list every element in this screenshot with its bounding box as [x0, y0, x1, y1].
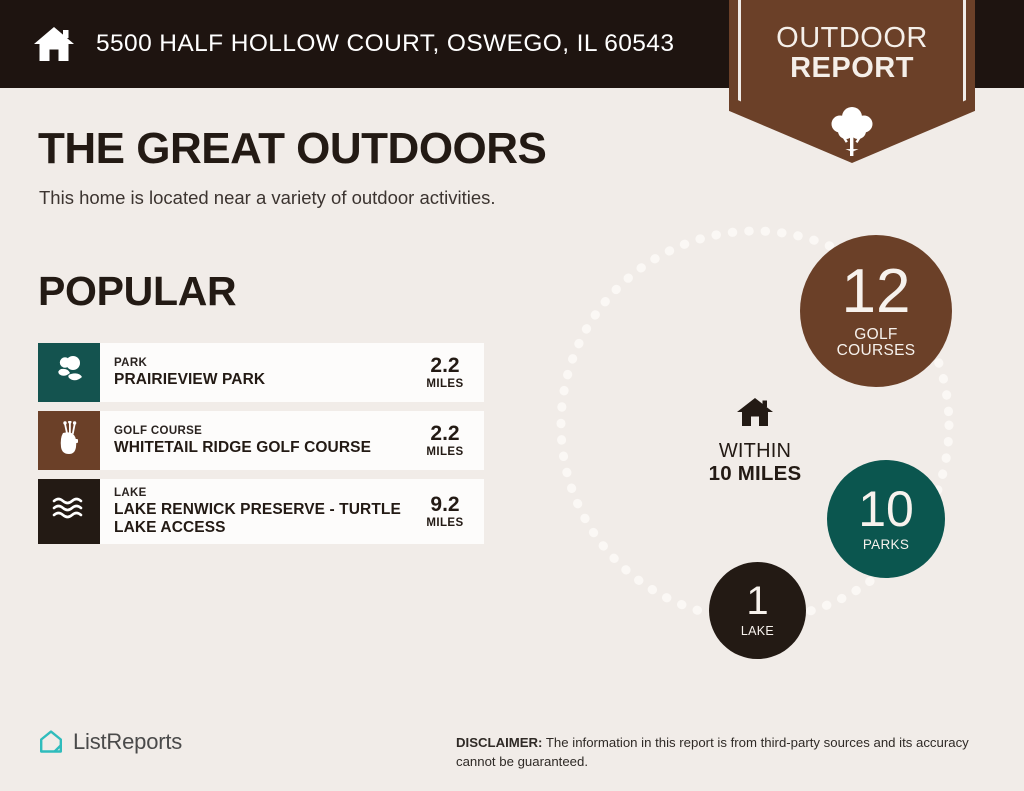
list-item-distance-value: 2.2	[414, 355, 476, 376]
within-label-line1: WITHIN	[690, 441, 820, 463]
list-item[interactable]: PARK PRAIRIEVIEW PARK 2.2 MILES	[38, 343, 484, 402]
list-item-distance-value: 2.2	[414, 423, 476, 444]
list-item-distance: 2.2 MILES	[414, 355, 484, 390]
list-item-name: WHITETAIL RIDGE GOLF COURSE	[114, 439, 414, 457]
list-item[interactable]: LAKE LAKE RENWICK PRESERVE - TURTLE LAKE…	[38, 479, 484, 544]
page-subtitle: This home is located near a variety of o…	[39, 187, 496, 209]
disclaimer: DISCLAIMER: The information in this repo…	[456, 734, 986, 771]
park-trees-icon	[52, 355, 86, 390]
list-item-icon-tile	[38, 343, 100, 402]
stat-count: 10	[858, 486, 914, 534]
within-label-line2: 10 MILES	[690, 463, 820, 486]
list-item-body: GOLF COURSE WHITETAIL RIDGE GOLF COURSE …	[100, 411, 484, 470]
stat-count: 1	[746, 582, 768, 620]
outdoor-report-page: 5500 HALF HOLLOW COURT, OSWEGO, IL 60543…	[0, 0, 1024, 791]
disclaimer-label: DISCLAIMER:	[456, 735, 542, 750]
home-icon	[690, 395, 820, 429]
list-item-texts: LAKE LAKE RENWICK PRESERVE - TURTLE LAKE…	[114, 486, 414, 537]
list-item-texts: GOLF COURSE WHITETAIL RIDGE GOLF COURSE	[114, 424, 414, 457]
list-item-distance-unit: MILES	[414, 446, 476, 458]
listreports-wordmark: ListReports	[73, 729, 182, 755]
list-item-icon-tile	[38, 411, 100, 470]
list-item[interactable]: GOLF COURSE WHITETAIL RIDGE GOLF COURSE …	[38, 411, 484, 470]
badge-title-line2: REPORT	[729, 54, 975, 84]
badge-title: OUTDOOR REPORT	[729, 24, 975, 83]
property-address: 5500 HALF HOLLOW COURT, OSWEGO, IL 60543	[96, 30, 674, 58]
list-item-name: PRAIRIEVIEW PARK	[114, 371, 414, 389]
list-item-category: GOLF COURSE	[114, 424, 414, 438]
diagram-center-label: WITHIN 10 MILES	[690, 395, 820, 486]
list-item-distance: 2.2 MILES	[414, 423, 484, 458]
home-icon	[32, 22, 76, 66]
header-address-group: 5500 HALF HOLLOW COURT, OSWEGO, IL 60543	[32, 0, 674, 88]
stat-label-line2: COURSES	[837, 343, 916, 359]
listreports-logo[interactable]: ListReports	[38, 729, 182, 755]
stat-bubble-golf-courses[interactable]: 12 GOLF COURSES	[800, 235, 952, 387]
stat-label-line1: GOLF	[837, 327, 916, 343]
page-title: THE GREAT OUTDOORS	[38, 124, 546, 174]
stat-label: LAKE	[741, 625, 774, 638]
list-item-body: LAKE LAKE RENWICK PRESERVE - TURTLE LAKE…	[100, 479, 484, 544]
listreports-house-icon	[38, 729, 64, 755]
water-waves-icon	[51, 495, 87, 528]
section-heading-popular: POPULAR	[38, 268, 236, 315]
list-item-distance: 9.2 MILES	[414, 494, 484, 529]
stat-label: PARKS	[863, 538, 909, 552]
list-item-category: LAKE	[114, 486, 414, 500]
list-item-category: PARK	[114, 356, 414, 370]
list-item-icon-tile	[38, 479, 100, 544]
stat-bubble-lake[interactable]: 1 LAKE	[709, 562, 806, 659]
popular-places-list: PARK PRAIRIEVIEW PARK 2.2 MILES	[38, 343, 484, 553]
stat-label: GOLF COURSES	[837, 327, 916, 360]
list-item-distance-value: 9.2	[414, 494, 476, 515]
stat-bubble-parks[interactable]: 10 PARKS	[827, 460, 945, 578]
list-item-name: LAKE RENWICK PRESERVE - TURTLE LAKE ACCE…	[114, 501, 414, 537]
proximity-diagram: WITHIN 10 MILES 12 GOLF COURSES 10 PARKS…	[530, 215, 1000, 675]
badge-title-line1: OUTDOOR	[729, 24, 975, 54]
stat-count: 12	[842, 263, 911, 322]
list-item-texts: PARK PRAIRIEVIEW PARK	[114, 356, 414, 389]
golf-bag-icon	[54, 421, 84, 460]
list-item-body: PARK PRAIRIEVIEW PARK 2.2 MILES	[100, 343, 484, 402]
list-item-distance-unit: MILES	[414, 517, 476, 529]
list-item-distance-unit: MILES	[414, 378, 476, 390]
